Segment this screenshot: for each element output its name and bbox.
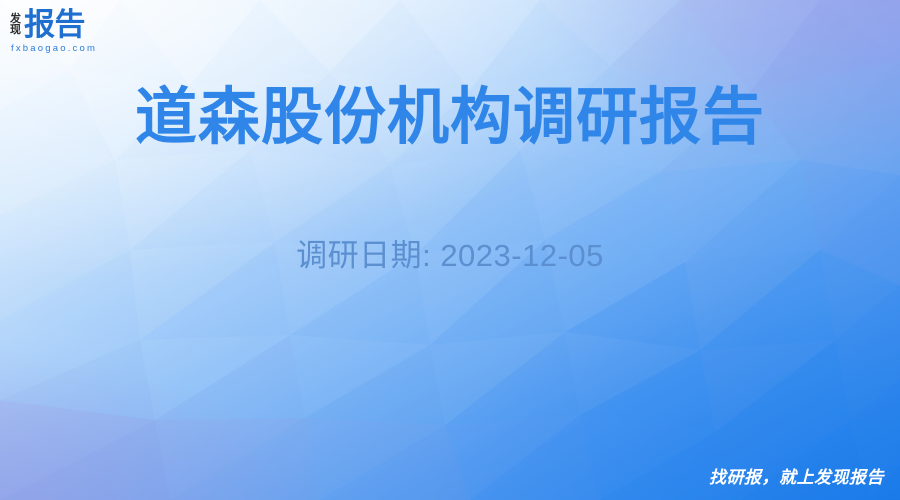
page-title: 道森股份机构调研报告: [0, 84, 900, 152]
logo-wordmark: 报告: [24, 9, 85, 40]
logo-mark-bottom-char: 现: [10, 25, 21, 36]
logo-domain-text: fxbaogao.com: [11, 43, 97, 54]
report-cover: 发 现 报告 fxbaogao.com 道森股份机构调研报告 调研日期: 202…: [0, 0, 900, 500]
footer-tagline: 找研报，就上发现报告: [709, 463, 884, 488]
logo-row: 发 现 报告: [10, 9, 85, 40]
logo-mark-icon: 发 现: [10, 13, 21, 37]
title-block: 道森股份机构调研报告: [0, 84, 900, 152]
survey-date-subtitle: 调研日期: 2023-12-05: [0, 230, 900, 275]
site-logo[interactable]: 发 现 报告 fxbaogao.com: [10, 9, 97, 54]
